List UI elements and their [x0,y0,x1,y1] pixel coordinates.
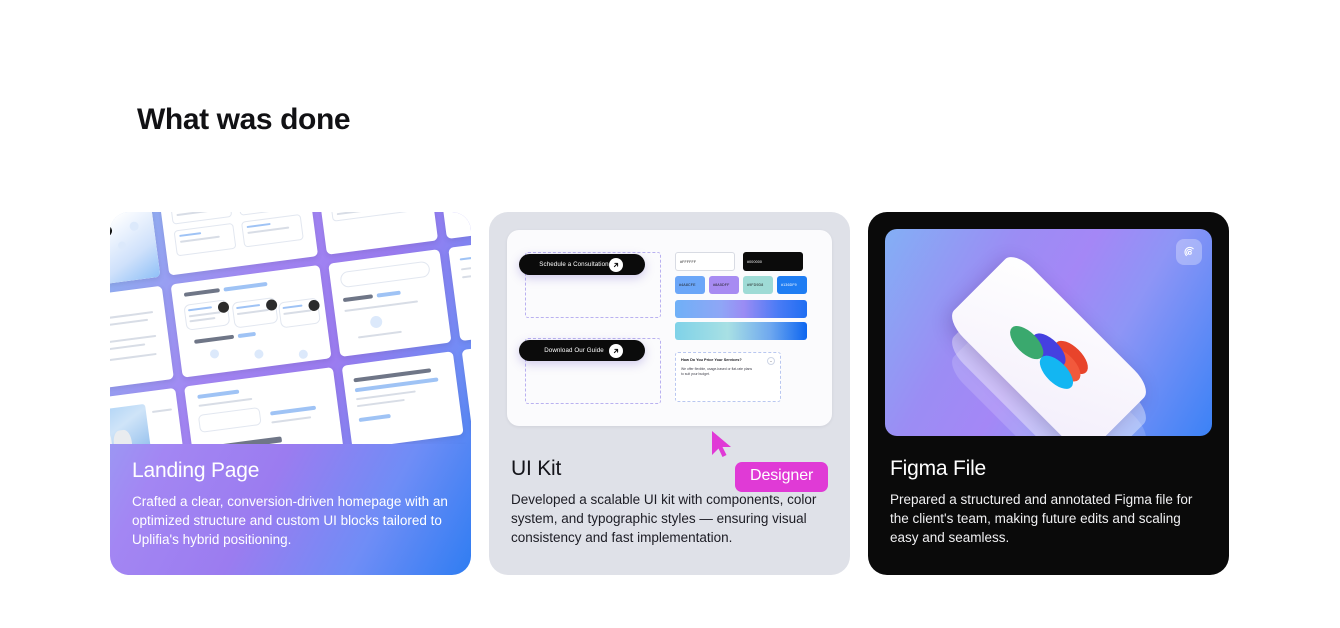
color-swatch-label: #136DF9 [781,283,797,287]
ui-kit-thumbnail: Schedule a Consultation Download Our Gui… [507,230,832,426]
card-figma-file[interactable]: Figma File Prepared a structured and ann… [868,212,1229,575]
collapse-icon[interactable]: − [767,357,775,365]
mockup-screen [462,335,471,433]
mockup-screen [110,286,174,394]
color-swatch: #9FD9D8 [743,276,773,294]
faq-block[interactable]: How Do You Price Your Services? We offer… [675,352,781,402]
mockup-screen [110,388,186,444]
arrow-up-right-icon [609,258,623,272]
faq-question: How Do You Price Your Services? [681,358,742,362]
ui-kit-panel: Schedule a Consultation Download Our Gui… [507,230,832,426]
color-swatch-label: #000000 [747,260,762,264]
isometric-layer-stack [929,238,1169,428]
card-title: Figma File [890,457,1207,481]
download-guide-button[interactable]: Download Our Guide [519,340,645,361]
mockup-screen [184,367,344,444]
color-swatch: #FFFFFF [675,252,735,271]
color-swatch: #4A8CFE [675,276,705,294]
mockup-mosaic [110,212,471,444]
figma-swirl-icon[interactable] [1176,239,1202,265]
color-swatch: #8A5DFF [709,276,739,294]
mockup-screen [158,212,318,276]
color-swatch-label: #8A5DFF [713,283,729,287]
mockup-screen [316,212,438,255]
color-swatch-label: #9FD9D8 [747,283,763,287]
gradient-bar [675,300,807,318]
card-description: Crafted a clear, conversion-driven homep… [132,492,449,549]
card-description: Prepared a structured and annotated Figm… [890,490,1207,547]
mockup-screen [448,233,471,341]
landing-page-thumbnail [110,212,471,444]
schedule-consultation-label: Schedule a Consultation [539,261,608,268]
cursor-label-designer: Designer [735,462,828,492]
mockup-screen [436,212,471,239]
card-ui-kit[interactable]: Schedule a Consultation Download Our Gui… [489,212,850,575]
color-swatch-label: #FFFFFF [680,260,696,264]
mockup-screen [342,351,464,444]
page-root: What was done [0,0,1340,628]
faq-answer: We offer flexible, usage-based or flat-r… [681,367,754,377]
color-swatch: #136DF9 [777,276,807,294]
card-description: Developed a scalable UI kit with compone… [511,490,828,547]
card-figma-file-body: Figma File Prepared a structured and ann… [868,457,1229,571]
cursor-pointer-icon [709,430,735,460]
page-title: What was done [137,103,350,137]
color-swatch: #000000 [743,252,803,271]
download-guide-label: Download Our Guide [544,347,604,354]
mockup-screen [110,212,160,291]
card-landing-page[interactable]: Landing Page Crafted a clear, conversion… [110,212,471,575]
schedule-consultation-button[interactable]: Schedule a Consultation [519,254,645,275]
color-swatch-label: #4A8CFE [679,283,696,287]
figma-file-thumbnail [885,229,1212,436]
gradient-bar [675,322,807,340]
cards-grid: Landing Page Crafted a clear, conversion… [110,212,1230,575]
mockup-screen [328,249,451,357]
card-title: Landing Page [132,459,449,483]
arrow-up-right-icon [609,344,623,358]
mockup-screen [171,265,332,378]
card-landing-page-body: Landing Page Crafted a clear, conversion… [110,459,471,573]
